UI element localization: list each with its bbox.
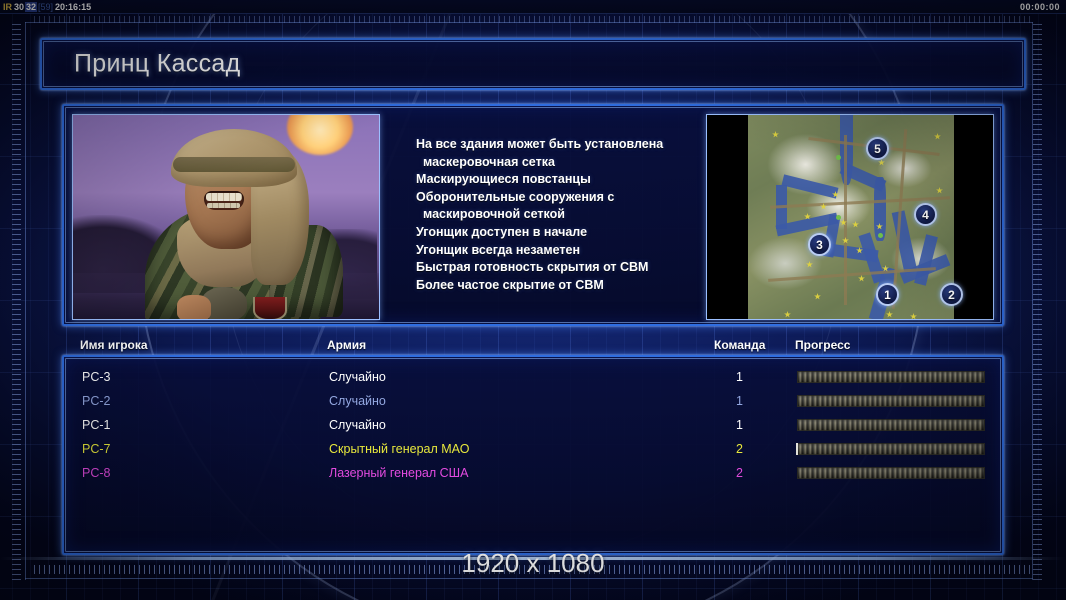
- ability-line: Угонщик доступен в начале: [416, 224, 700, 242]
- resource-star: [936, 187, 943, 194]
- ability-line: Оборонительные сооружения с: [416, 189, 700, 207]
- table-row[interactable]: PC-7Скрытный генерал МАО2: [64, 437, 1002, 461]
- headwrap-band: [173, 157, 295, 172]
- ability-line: На все здания может быть установлена: [416, 136, 700, 154]
- resource-star: [886, 311, 893, 318]
- cell-progress: [797, 371, 985, 383]
- resource-star: [858, 275, 865, 282]
- cell-player-name: PC-7: [82, 437, 110, 461]
- cell-team: 1: [736, 413, 743, 437]
- map-terrain: 12345: [748, 115, 954, 320]
- status-ir-label: IR: [2, 2, 13, 12]
- cell-progress: [797, 443, 985, 455]
- river-segment: [874, 177, 886, 241]
- ability-line: маскеровочная сетка: [416, 154, 700, 172]
- status-right-clock: 00:00:00: [1020, 0, 1060, 14]
- progress-bar: [797, 419, 985, 431]
- resource-dot: [836, 155, 841, 160]
- title-panel: Принц Кассад: [40, 38, 1026, 90]
- general-info-panel: На все здания может быть установленамаск…: [62, 104, 1004, 326]
- cell-player-name: PC-1: [82, 413, 110, 437]
- cell-team: 1: [736, 389, 743, 413]
- start-position-marker[interactable]: 3: [808, 233, 831, 256]
- progress-marker: [796, 443, 798, 455]
- ability-line: Быстрая готовность скрытия от СВМ: [416, 259, 700, 277]
- general-ability-list: На все здания может быть установленамаск…: [380, 114, 706, 316]
- player-table-panel: PC-3Случайно1PC-2Случайно1PC-1Случайно1P…: [62, 355, 1004, 555]
- map-preview: 12345: [706, 114, 994, 320]
- cell-team: 2: [736, 437, 743, 461]
- player-list: PC-3Случайно1PC-2Случайно1PC-1Случайно1P…: [64, 365, 1002, 485]
- top-status-bar: IR3032[59]20:16:15 00:00:00: [0, 0, 1066, 14]
- cell-progress: [797, 467, 985, 479]
- tea-cup: [253, 297, 287, 320]
- column-header-team: Команда: [714, 338, 765, 352]
- resource-star: [878, 159, 885, 166]
- cell-player-name: PC-3: [82, 365, 110, 389]
- hand: [177, 295, 211, 320]
- table-row[interactable]: PC-3Случайно1: [64, 365, 1002, 389]
- resource-star: [784, 311, 791, 318]
- cell-team: 2: [736, 461, 743, 485]
- progress-bar: [797, 467, 985, 479]
- river-segment: [782, 174, 839, 198]
- progress-bar: [797, 371, 985, 383]
- teeth-upper: [206, 193, 242, 201]
- resource-dot: [836, 215, 841, 220]
- progress-bar: [797, 395, 985, 407]
- ability-line: Маскирующиеся повстанцы: [416, 171, 700, 189]
- resource-star: [852, 221, 859, 228]
- cell-army: Случайно: [329, 365, 386, 389]
- cell-team: 1: [736, 365, 743, 389]
- cell-progress: [797, 419, 985, 431]
- resource-star: [772, 131, 779, 138]
- table-row[interactable]: PC-1Случайно1: [64, 413, 1002, 437]
- frame-line-left: [25, 22, 26, 580]
- resource-star: [806, 261, 813, 268]
- resource-star: [934, 133, 941, 140]
- resource-star: [910, 313, 917, 320]
- status-number-2: 32: [25, 2, 37, 12]
- table-row[interactable]: PC-2Случайно1: [64, 389, 1002, 413]
- general-portrait: [72, 114, 380, 320]
- teeth-lower: [207, 203, 240, 208]
- table-row[interactable]: PC-8Лазерный генерал США2: [64, 461, 1002, 485]
- cell-player-name: PC-8: [82, 461, 110, 485]
- column-header-name: Имя игрока: [80, 338, 148, 352]
- ability-line: Угонщик всегда незаметен: [416, 242, 700, 260]
- cell-army: Случайно: [329, 389, 386, 413]
- ability-line: Более частое скрытие от СВМ: [416, 277, 700, 295]
- ability-line: маскировочной сеткой: [416, 206, 700, 224]
- game-screen: IR3032[59]20:16:15 00:00:00 Принц Кассад: [0, 0, 1066, 600]
- resource-star: [814, 293, 821, 300]
- road-segment: [844, 135, 847, 305]
- frame-line-right: [1032, 22, 1033, 580]
- start-position-marker[interactable]: 4: [914, 203, 937, 226]
- column-header-army: Армия: [327, 338, 366, 352]
- page-title: Принц Кассад: [74, 50, 240, 79]
- resolution-overlay: 1920 x 1080: [0, 548, 1066, 579]
- status-bracket: [59]: [37, 2, 54, 12]
- resource-dot: [878, 233, 883, 238]
- sun-decoration: [287, 114, 353, 155]
- status-left-group: IR3032[59]20:16:15: [2, 0, 92, 14]
- cell-progress: [797, 395, 985, 407]
- cell-army: Скрытный генерал МАО: [329, 437, 469, 461]
- status-number-1: 30: [13, 2, 25, 12]
- progress-bar: [797, 443, 985, 455]
- column-header-progress: Прогресс: [795, 338, 850, 352]
- start-position-marker[interactable]: 2: [940, 283, 963, 306]
- cell-player-name: PC-2: [82, 389, 110, 413]
- status-clock: 20:16:15: [54, 2, 92, 12]
- frame-line-top: [25, 22, 1033, 23]
- cell-army: Лазерный генерал США: [329, 461, 468, 485]
- player-table-header: Имя игрока Армия Команда Прогресс: [62, 338, 1004, 356]
- cell-army: Случайно: [329, 413, 386, 437]
- start-position-marker[interactable]: 5: [866, 137, 889, 160]
- start-position-marker[interactable]: 1: [876, 283, 899, 306]
